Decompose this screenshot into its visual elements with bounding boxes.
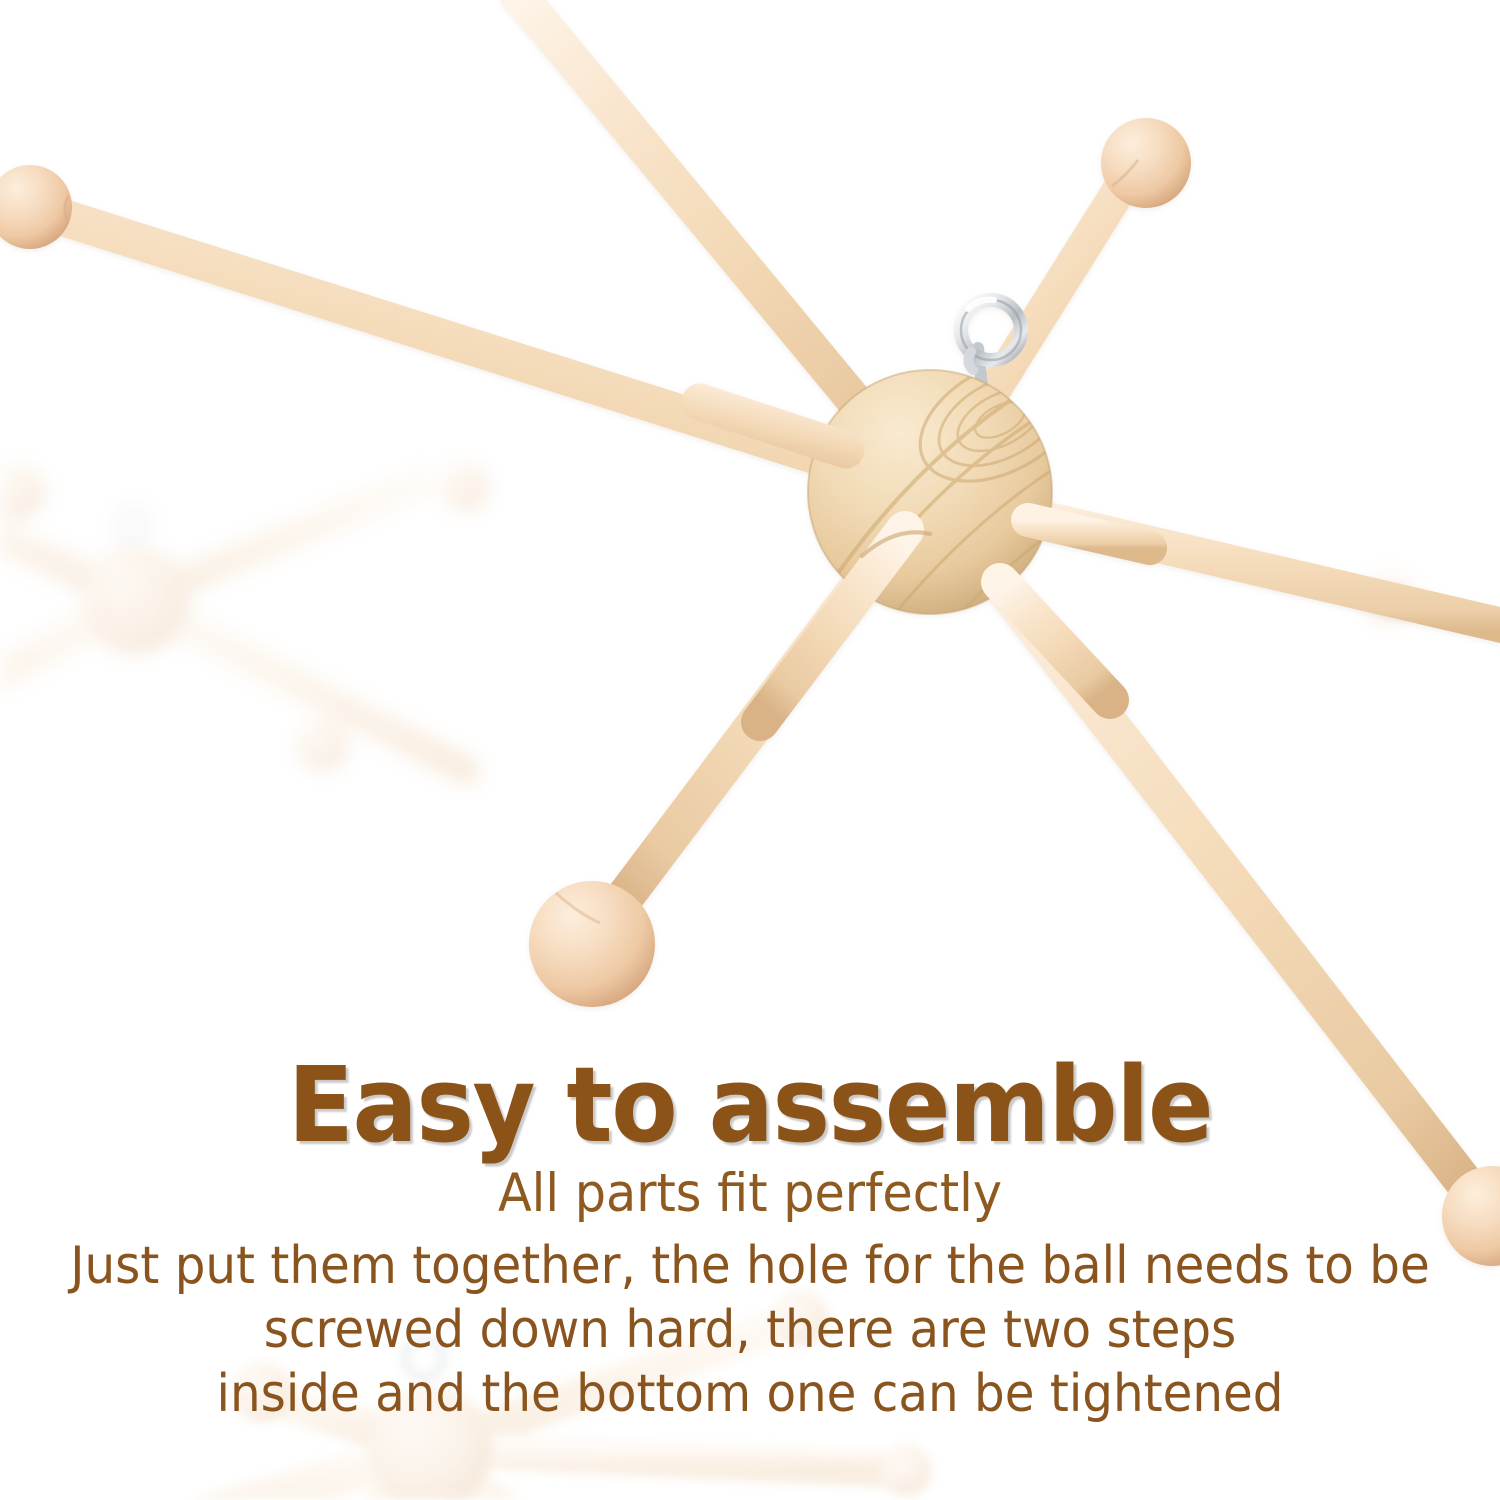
body-line-3: inside and the bottom one can be tighten… [53,1363,1448,1427]
caption-block: Easy to assemble All parts fit perfectly… [0,1052,1500,1427]
body-line-2: screwed down hard, there are two steps [53,1299,1448,1363]
page-title: Easy to assemble [53,1052,1448,1158]
subheadline: All parts fit perfectly [53,1164,1448,1223]
body-copy: Just put them together, the hole for the… [0,1235,1500,1427]
body-line-1: Just put them together, the hole for the… [53,1235,1448,1299]
product-marketing-image: Easy to assemble All parts fit perfectly… [0,0,1500,1500]
